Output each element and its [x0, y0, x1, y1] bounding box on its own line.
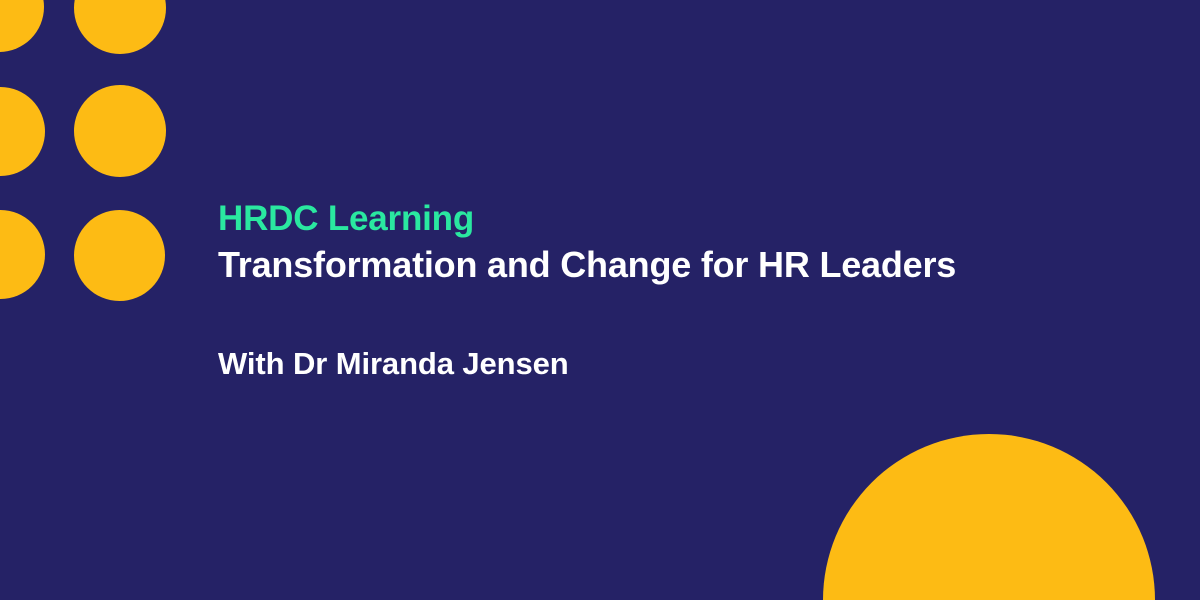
- yellow-dot-icon: [0, 210, 45, 299]
- yellow-dot-icon: [74, 0, 166, 54]
- yellow-dot-icon: [74, 210, 165, 301]
- page-title: Transformation and Change for HR Leaders: [218, 242, 1098, 288]
- large-circle-decoration: [823, 434, 1155, 600]
- event-banner: HRDC Learning Transformation and Change …: [0, 0, 1200, 600]
- banner-text-block: HRDC Learning Transformation and Change …: [218, 196, 1098, 384]
- brand-eyebrow: HRDC Learning: [218, 196, 1098, 242]
- presenter-name: With Dr Miranda Jensen: [218, 288, 1098, 384]
- yellow-dot-icon: [0, 0, 44, 52]
- yellow-dot-icon: [0, 87, 45, 176]
- yellow-dot-icon: [74, 85, 166, 177]
